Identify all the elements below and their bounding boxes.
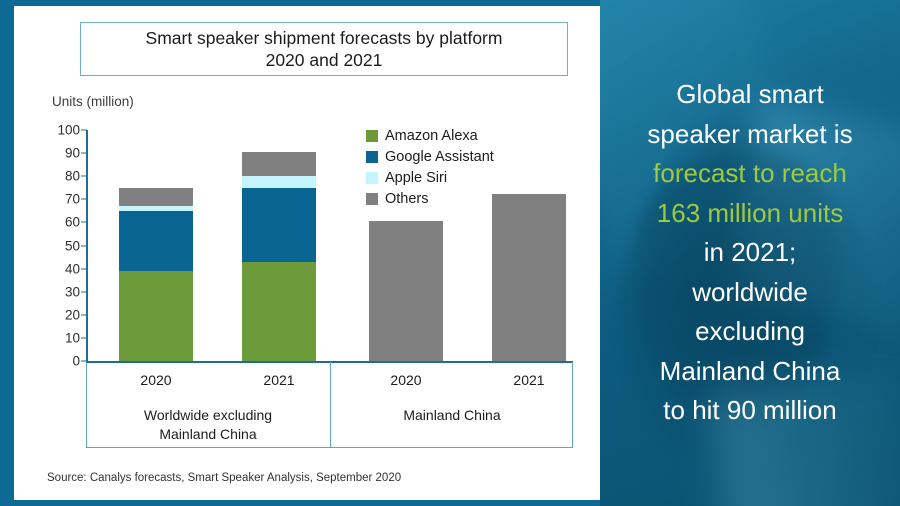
y-axis-tick-mark — [81, 245, 87, 246]
y-axis-tick-mark — [81, 268, 87, 269]
legend-item[interactable]: Amazon Alexa — [366, 125, 494, 146]
bar-segment-others — [369, 221, 443, 361]
legend-swatch-icon — [366, 193, 378, 205]
legend-label: Others — [385, 191, 429, 207]
y-axis-tick-label: 100 — [40, 123, 80, 138]
category-group-label: Mainland China — [331, 406, 573, 425]
y-axis-tick-label: 70 — [40, 192, 80, 207]
callout-panel: Global smartspeaker market isforecast to… — [600, 0, 900, 506]
y-axis-tick-mark — [81, 314, 87, 315]
bar-segment-google-assistant — [119, 211, 193, 271]
y-axis-tick-label: 40 — [40, 261, 80, 276]
y-axis-tick-label: 10 — [40, 330, 80, 345]
y-axis-tick-mark — [81, 337, 87, 338]
category-year-label: 2020 — [101, 372, 211, 388]
y-axis-tick-mark — [81, 176, 87, 177]
category-year-label: 2021 — [474, 372, 584, 388]
y-axis-tick-label: 60 — [40, 215, 80, 230]
plot-area: 0102030405060708090100 2020202120202021W… — [14, 6, 600, 500]
slide: Smart speaker shipment forecasts by plat… — [0, 0, 900, 506]
callout-line: to hit 90 million — [663, 391, 836, 431]
callout-line: speaker market is — [647, 115, 852, 155]
y-axis-tick-mark — [81, 130, 87, 131]
chart-legend: Amazon AlexaGoogle AssistantApple SiriOt… — [366, 125, 494, 209]
y-axis-tick-mark — [81, 222, 87, 223]
legend-item[interactable]: Apple Siri — [366, 167, 494, 188]
legend-item[interactable]: Google Assistant — [366, 146, 494, 167]
callout-line: forecast to reach — [653, 154, 847, 194]
callout-line: excluding — [695, 312, 805, 352]
legend-item[interactable]: Others — [366, 188, 494, 209]
chart-card: Smart speaker shipment forecasts by plat… — [14, 6, 600, 500]
category-group-label: Worldwide excludingMainland China — [86, 406, 330, 444]
legend-label: Google Assistant — [385, 149, 494, 165]
legend-swatch-icon — [366, 130, 378, 142]
y-axis-tick-mark — [81, 199, 87, 200]
legend-swatch-icon — [366, 151, 378, 163]
bar-worldwide-excluding-mainland-china-2021 — [242, 130, 316, 361]
legend-swatch-icon — [366, 172, 378, 184]
callout-line: 163 million units — [657, 194, 843, 234]
y-axis-line — [86, 130, 88, 362]
callout-line: in 2021; — [704, 233, 797, 273]
legend-label: Apple Siri — [385, 170, 447, 186]
legend-label: Amazon Alexa — [385, 128, 478, 144]
y-axis-tick-label: 0 — [40, 354, 80, 369]
y-axis-tick-mark — [81, 153, 87, 154]
source-note: Source: Canalys forecasts, Smart Speaker… — [47, 472, 401, 484]
bar-segment-amazon-alexa — [242, 262, 316, 361]
y-axis-tick-label: 20 — [40, 307, 80, 322]
bar-segment-apple-siri — [242, 176, 316, 188]
y-axis-tick-mark — [81, 291, 87, 292]
bar-segment-apple-siri — [119, 206, 193, 211]
bar-segment-others — [492, 194, 566, 361]
y-axis-tick-label: 90 — [40, 146, 80, 161]
callout-line: Global smart — [676, 75, 823, 115]
category-year-label: 2021 — [224, 372, 334, 388]
y-axis-tick-label: 50 — [40, 238, 80, 253]
bar-mainland-china-2021 — [492, 130, 566, 361]
y-axis-tick-label: 30 — [40, 284, 80, 299]
bar-segment-others — [119, 188, 193, 206]
callout-line: worldwide — [692, 273, 808, 313]
bar-segment-google-assistant — [242, 188, 316, 262]
bar-segment-others — [242, 152, 316, 176]
y-axis-tick-label: 80 — [40, 169, 80, 184]
callout-line: Mainland China — [660, 352, 841, 392]
callout-text: Global smartspeaker market isforecast to… — [600, 0, 900, 506]
category-year-label: 2020 — [351, 372, 461, 388]
bar-segment-amazon-alexa — [119, 271, 193, 361]
bar-worldwide-excluding-mainland-china-2020 — [119, 130, 193, 361]
